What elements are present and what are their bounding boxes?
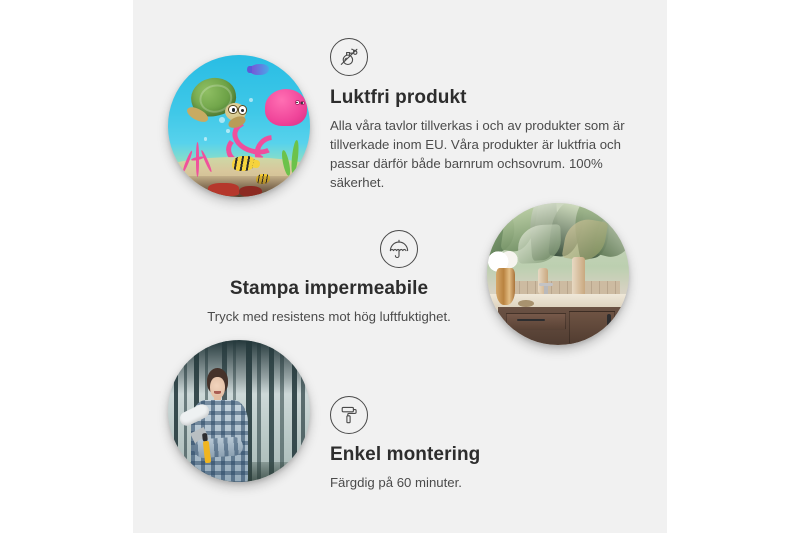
underwater-cartoon-circle bbox=[168, 55, 310, 197]
forest-painter-circle bbox=[168, 340, 310, 482]
feature-title: Luktfri produkt bbox=[330, 87, 626, 110]
feature-description: Tryck med resistens mot hög luftfuktighe… bbox=[196, 307, 462, 326]
promo-graphic: Luktfri produkt Alla våra tavlor tillver… bbox=[0, 0, 800, 533]
feature-icon-wrap bbox=[196, 230, 462, 268]
feature-title: Stampa impermeabile bbox=[196, 278, 462, 301]
bathroom-vanity-circle bbox=[487, 203, 629, 345]
no-fragrance-icon bbox=[330, 38, 368, 76]
feature-block-easy-mounting: Enkel montering Färgdig på 60 minuter. bbox=[330, 396, 610, 492]
feature-icon-wrap bbox=[330, 38, 626, 76]
umbrella-icon bbox=[380, 230, 418, 268]
feature-description: Alla våra tavlor tillverkas i och av pro… bbox=[330, 116, 626, 193]
feature-icon-wrap bbox=[330, 396, 610, 434]
feature-description: Färgdig på 60 minuter. bbox=[330, 473, 610, 492]
feature-block-odor-free: Luktfri produkt Alla våra tavlor tillver… bbox=[330, 38, 626, 192]
feature-block-waterproof: Stampa impermeabile Tryck med resistens … bbox=[196, 230, 462, 326]
feature-title: Enkel montering bbox=[330, 444, 610, 467]
paint-roller-icon bbox=[330, 396, 368, 434]
